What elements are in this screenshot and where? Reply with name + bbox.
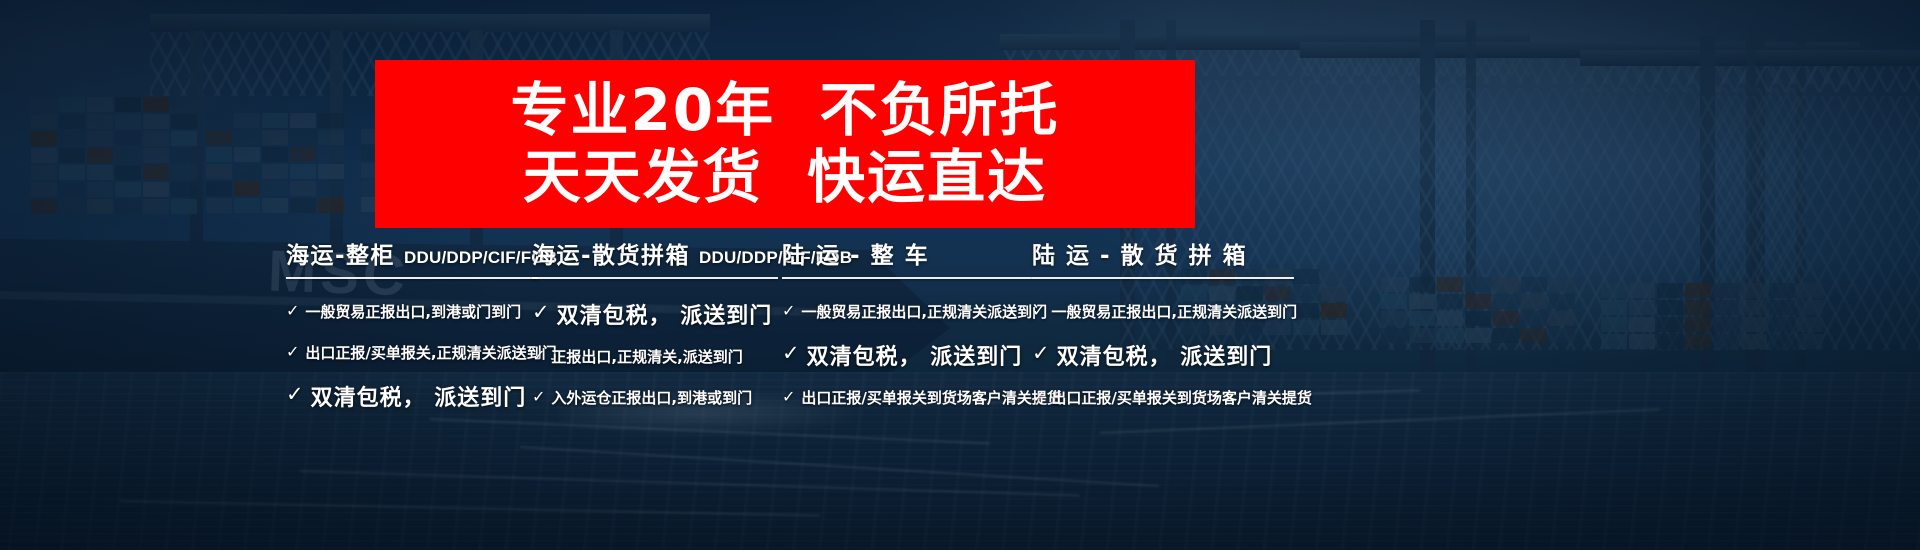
service-feature-item: ✓双清包税， 派送到门 — [286, 373, 538, 418]
check-icon: ✓ — [532, 389, 545, 405]
service-column-title: 陆 运 - 散 货 拼 箱 — [1032, 236, 1247, 270]
check-icon: ✓ — [532, 302, 551, 323]
service-feature-item: ✓出口正报/买单报关到货场客户清关提货 — [1032, 377, 1294, 418]
service-column-2: 海运-散货拼箱DDU/DDP/CIF/FOB✓双清包税， 派送到门✓正报出口,正… — [532, 236, 778, 418]
check-icon: ✓ — [782, 343, 801, 364]
service-feature-label: 双清包税， 派送到门 — [807, 339, 1023, 371]
service-feature-label: 出口正报/买单报关到货场客户清关提货 — [801, 387, 1061, 408]
service-feature-list: ✓一般贸易正报出口,正规清关派送到门✓双清包税， 派送到门✓出口正报/买单报关到… — [1032, 291, 1294, 418]
service-feature-item: ✓出口正报/买单报关,正规清关派送到门 — [286, 332, 538, 373]
service-feature-label: 双清包税， 派送到门 — [557, 298, 773, 330]
service-column-divider — [532, 277, 778, 279]
check-icon: ✓ — [1032, 343, 1051, 364]
check-icon: ✓ — [1032, 389, 1045, 405]
service-column-header: 陆 运 - 整 车 — [782, 236, 1032, 277]
service-column-1: 海运-整柜DDU/DDP/CIF/FOB✓一般贸易正报出口,到港或门到门✓出口正… — [286, 236, 538, 418]
promo-banner: MSC 专业20年 不负所托 天天发货 快运直达 海运-整柜DDU/DDP/CI… — [0, 0, 1920, 550]
service-feature-label: 出口正报/买单报关到货场客户清关提货 — [1051, 387, 1311, 408]
service-column-header: 海运-整柜DDU/DDP/CIF/FOB — [286, 236, 538, 277]
service-feature-label: 一般贸易正报出口,到港或门到门 — [305, 301, 521, 322]
service-feature-item: ✓正报出口,正规清关,派送到门 — [532, 336, 778, 377]
service-feature-item: ✓双清包税， 派送到门 — [1032, 332, 1294, 377]
service-feature-label: 正报出口,正规清关,派送到门 — [551, 346, 742, 367]
service-column-divider — [286, 277, 538, 279]
headline-line-1: 专业20年 不负所托 — [510, 78, 1059, 143]
check-icon: ✓ — [782, 303, 795, 319]
service-column-title: 海运-整柜 — [286, 236, 395, 270]
check-icon: ✓ — [782, 389, 795, 405]
service-feature-list: ✓一般贸易正报出口,正规清关派送到门✓双清包税， 派送到门✓出口正报/买单报关到… — [782, 291, 1032, 418]
service-column-header: 海运-散货拼箱DDU/DDP/CIF/FOB — [532, 236, 778, 277]
service-columns: 海运-整柜DDU/DDP/CIF/FOB✓一般贸易正报出口,到港或门到门✓出口正… — [0, 236, 1920, 406]
service-feature-label: 双清包税， 派送到门 — [1057, 339, 1273, 371]
service-column-header: 陆 运 - 散 货 拼 箱 — [1032, 236, 1294, 277]
service-feature-item: ✓双清包税， 派送到门 — [782, 332, 1032, 377]
headline-line-2: 天天发货 快运直达 — [523, 145, 1047, 210]
service-feature-label: 一般贸易正报出口,正规清关派送到门 — [801, 301, 1047, 322]
service-feature-label: 出口正报/买单报关,正规清关派送到门 — [305, 342, 556, 363]
service-feature-list: ✓一般贸易正报出口,到港或门到门✓出口正报/买单报关,正规清关派送到门✓双清包税… — [286, 291, 538, 418]
service-feature-item: ✓一般贸易正报出口,正规清关派送到门 — [1032, 291, 1294, 332]
service-column-divider — [1032, 277, 1294, 279]
check-icon: ✓ — [286, 303, 299, 319]
service-feature-label: 入外运仓正报出口,到港或到门 — [551, 387, 752, 408]
check-icon: ✓ — [286, 384, 305, 405]
service-column-4: 陆 运 - 散 货 拼 箱✓一般贸易正报出口,正规清关派送到门✓双清包税， 派送… — [1032, 236, 1294, 418]
headline-plate: 专业20年 不负所托 天天发货 快运直达 — [375, 60, 1195, 228]
service-feature-item: ✓双清包税， 派送到门 — [532, 291, 778, 336]
service-column-title: 陆 运 - 整 车 — [782, 236, 929, 270]
check-icon: ✓ — [1032, 303, 1045, 319]
service-feature-label: 一般贸易正报出口,正规清关派送到门 — [1051, 301, 1297, 322]
service-column-title: 海运-散货拼箱 — [532, 236, 690, 270]
check-icon: ✓ — [286, 344, 299, 360]
service-column-divider — [782, 277, 1032, 279]
service-feature-label: 双清包税， 派送到门 — [311, 380, 527, 412]
check-icon: ✓ — [532, 348, 545, 364]
service-feature-list: ✓双清包税， 派送到门✓正报出口,正规清关,派送到门✓入外运仓正报出口,到港或到… — [532, 291, 778, 418]
service-feature-item: ✓入外运仓正报出口,到港或到门 — [532, 377, 778, 418]
service-feature-item: ✓一般贸易正报出口,正规清关派送到门 — [782, 291, 1032, 332]
service-feature-item: ✓出口正报/买单报关到货场客户清关提货 — [782, 377, 1032, 418]
service-feature-item: ✓一般贸易正报出口,到港或门到门 — [286, 291, 538, 332]
service-column-3: 陆 运 - 整 车✓一般贸易正报出口,正规清关派送到门✓双清包税， 派送到门✓出… — [782, 236, 1032, 418]
